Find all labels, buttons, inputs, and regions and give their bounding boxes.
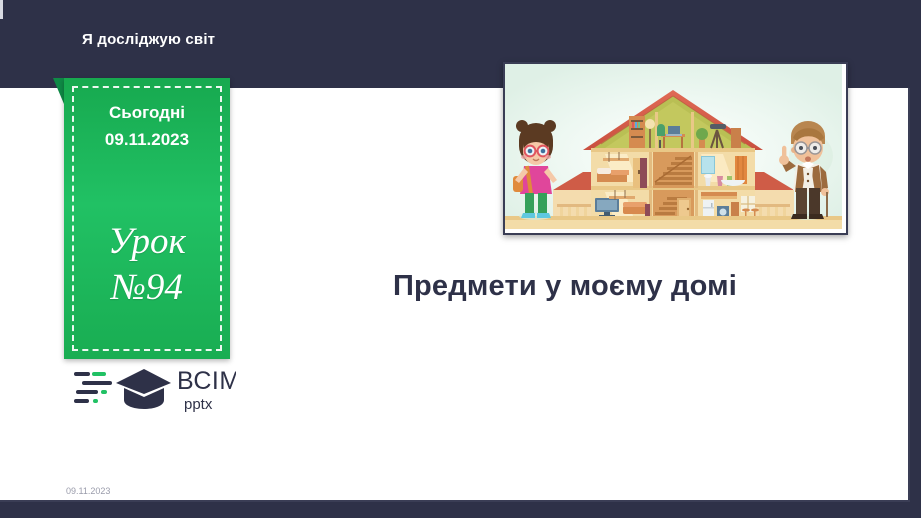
logo-suffix-text: pptx	[184, 396, 213, 413]
house-illustration	[503, 62, 848, 235]
banner-lesson-number: №94	[64, 265, 230, 311]
vsim-pptx-logo: ВСІМ pptx	[74, 364, 236, 416]
banner-today-label: Сьогодні	[64, 103, 230, 123]
logo-brand-text: ВСІМ	[177, 367, 236, 395]
banner-fold-triangle	[53, 78, 64, 104]
house-cutaway-svg	[505, 64, 842, 229]
page-title: Я досліджую світ	[82, 31, 215, 48]
left-edge-sliver	[0, 0, 3, 19]
graduation-cap-icon: ВСІМ pptx	[74, 364, 236, 416]
footer-date: 09.11.2023	[66, 486, 110, 496]
banner-lesson: Урок №94	[64, 219, 230, 311]
main-title: Предмети у моєму домі	[340, 270, 790, 303]
banner-lesson-word: Урок	[64, 219, 230, 265]
slide-canvas: Я досліджую світ Сьогодні 09.11.2023 Уро…	[0, 0, 921, 518]
banner-body: Сьогодні 09.11.2023 Урок №94	[64, 78, 230, 359]
lesson-banner: Сьогодні 09.11.2023 Урок №94	[64, 78, 230, 359]
banner-date: 09.11.2023	[64, 130, 230, 150]
